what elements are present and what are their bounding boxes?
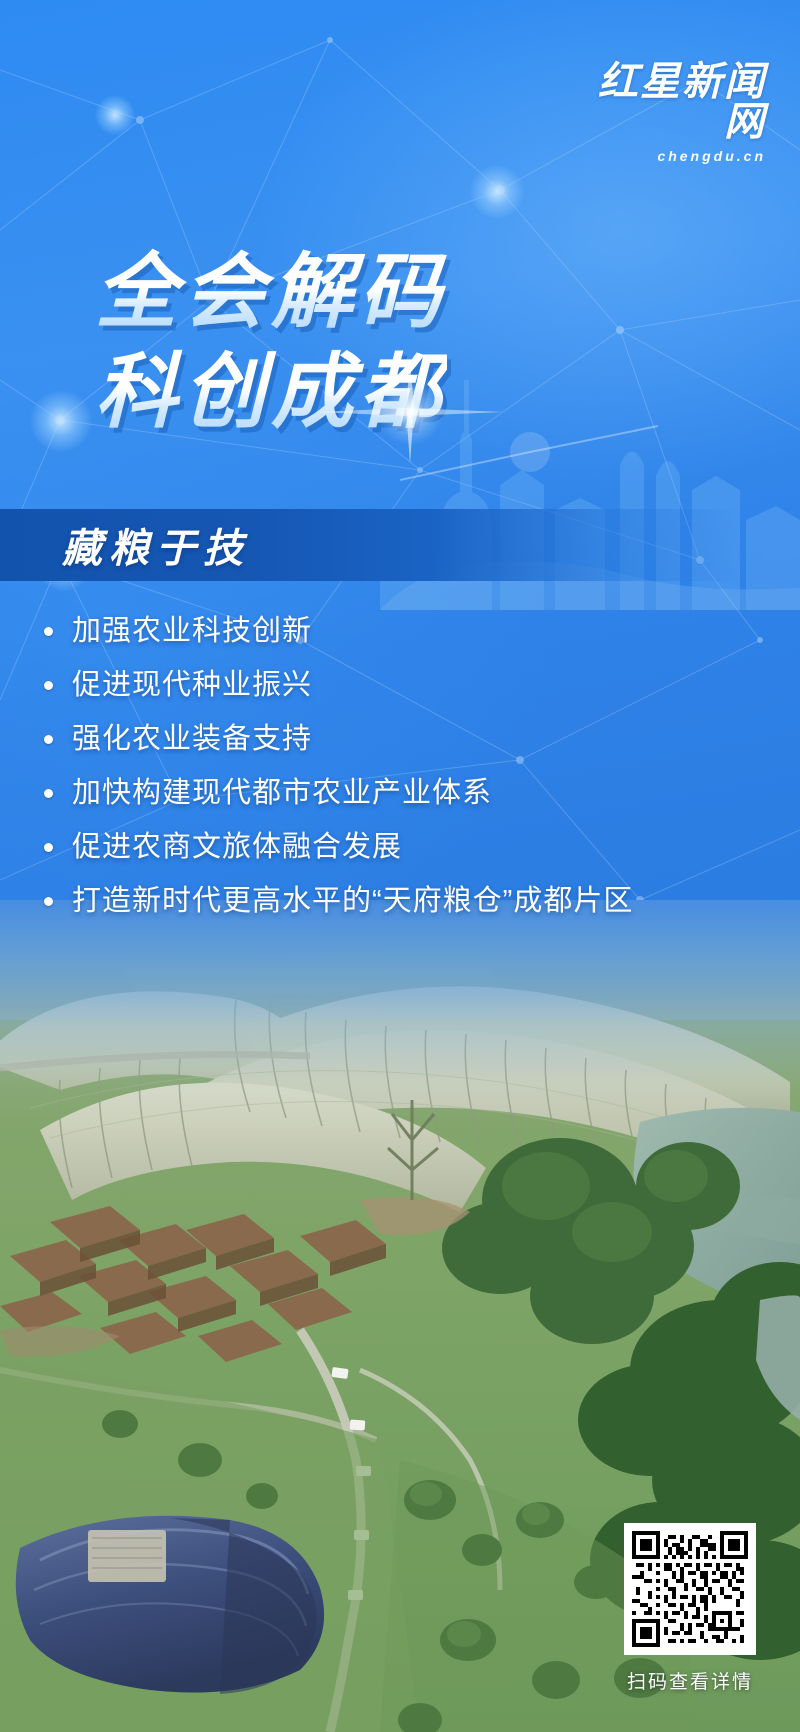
qr-caption: 扫码查看详情 [602, 1667, 778, 1694]
bullet-dot-icon [44, 789, 53, 798]
bullet-dot-icon [44, 681, 53, 690]
subtitle-label: 藏粮于技 [62, 516, 250, 574]
list-item: 强化农业装备支持 [44, 712, 774, 766]
title-line-2: 科创成都 [95, 343, 447, 443]
glow-node-icon [470, 165, 524, 219]
bullet-text: 促进农商文旅体融合发展 [72, 833, 402, 862]
qr-code-block[interactable]: 扫码查看详情 [602, 1523, 778, 1694]
site-logo[interactable]: 红星新闻网 chengdu.cn [576, 62, 766, 164]
bullet-text: 促进现代种业振兴 [72, 671, 312, 700]
poster-title: 全会解码 科创成都 [95, 243, 447, 443]
bullet-text: 强化农业装备支持 [72, 725, 312, 754]
glow-node-icon [95, 95, 135, 135]
bullet-text: 加快构建现代都市农业产业体系 [72, 779, 492, 808]
bullet-list: 加强农业科技创新 促进现代种业振兴 强化农业装备支持 加快构建现代都市农业产业体… [44, 604, 774, 928]
bullet-dot-icon [44, 627, 53, 636]
title-line-1: 全会解码 [95, 243, 447, 343]
list-item: 打造新时代更高水平的“天府粮仓”成都片区 [44, 874, 774, 928]
logo-name: 红星新闻网 [576, 62, 766, 142]
glow-node-icon [30, 390, 92, 452]
logo-domain: chengdu.cn [576, 148, 766, 164]
bullet-dot-icon [44, 843, 53, 852]
poster-header-background: 红星新闻网 chengdu.cn 全会解码 科创成都 藏粮于技 加强农业科技创新… [0, 0, 800, 1000]
list-item: 促进现代种业振兴 [44, 658, 774, 712]
bullet-text: 加强农业科技创新 [72, 617, 312, 646]
list-item: 加强农业科技创新 [44, 604, 774, 658]
list-item: 加快构建现代都市农业产业体系 [44, 766, 774, 820]
news-poster: 红星新闻网 chengdu.cn 全会解码 科创成都 藏粮于技 加强农业科技创新… [0, 0, 800, 1732]
qr-code-icon [632, 1531, 748, 1647]
bullet-dot-icon [44, 897, 53, 906]
bullet-dot-icon [44, 735, 53, 744]
bullet-text: 打造新时代更高水平的“天府粮仓”成都片区 [72, 887, 633, 916]
qr-code-image[interactable] [624, 1523, 756, 1655]
list-item: 促进农商文旅体融合发展 [44, 820, 774, 874]
